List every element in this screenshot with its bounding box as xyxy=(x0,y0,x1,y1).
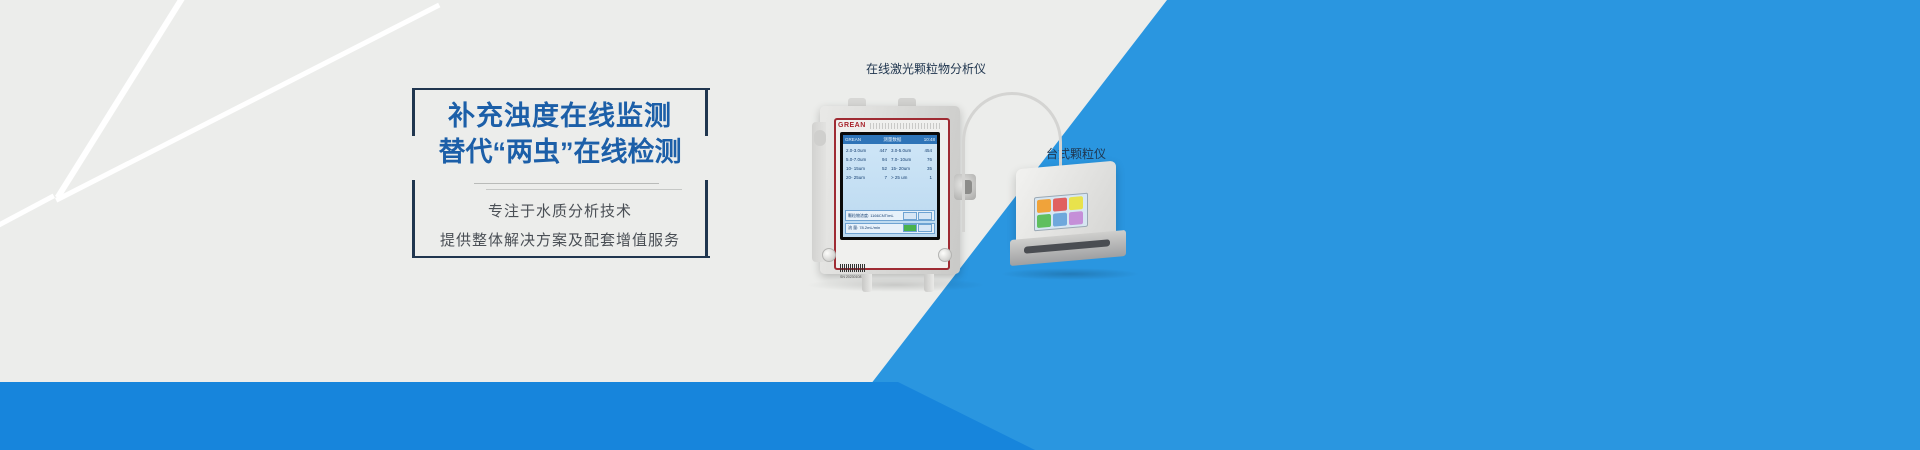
analyzer-foot-left xyxy=(862,274,872,292)
hero-banner: 补充浊度在线监测 替代“两虫”在线检测 专注于水质分析技术 提供整体解决方案及配… xyxy=(0,0,1920,450)
analyzer-display-bezel: GREAN 测量数据 10:48 2.0-3.0um 447 3.0-5.0um… xyxy=(840,132,940,240)
screen-title-left: GREAN xyxy=(845,137,861,142)
tile-yellow-icon[interactable] xyxy=(1069,196,1083,210)
bracket-top-rule xyxy=(412,88,710,90)
cell-value-a: 94 xyxy=(867,155,890,164)
analyzer-foot-right xyxy=(924,274,934,292)
subtitle-line-1: 专注于水质分析技术 xyxy=(412,200,708,221)
analyzer-screen[interactable]: GREAN 测量数据 10:48 2.0-3.0um 447 3.0-5.0um… xyxy=(843,135,937,237)
analyzer-vent-grille xyxy=(870,123,940,129)
screen-status-area: 颗粒物浓度: 1166CNT/mL 流 量: 78.2mL/min xyxy=(843,209,937,237)
screen-data-table: 2.0-3.0um 447 3.0-5.0um 454 5.0-7.0um 94… xyxy=(843,144,937,209)
cell-value-b: 1 xyxy=(912,173,935,182)
cell-range-b: > 25 um xyxy=(890,173,912,182)
cell-value-a: 7 xyxy=(867,173,890,182)
cell-range-a: 5.0-7.0um xyxy=(845,155,867,164)
benchtop-screen[interactable] xyxy=(1034,193,1088,232)
bracket-bottom-rule xyxy=(412,256,710,258)
cell-value-a: 52 xyxy=(867,164,890,173)
table-row: 10- 15um 52 15- 20um 35 xyxy=(845,164,935,173)
settings-button[interactable] xyxy=(903,212,917,220)
headline-line-1: 补充浊度在线监测 xyxy=(412,98,708,134)
cell-range-a: 2.0-3.0um xyxy=(845,146,867,155)
cell-value-b: 76 xyxy=(912,155,935,164)
online-laser-particle-analyzer: GREAN GREAN 测量数据 10:48 2.0-3.0um 447 3.0… xyxy=(812,96,970,286)
subtitle-line-2: 提供整体解决方案及配套增值服务 xyxy=(412,229,708,250)
table-row: 20- 25um 7 > 25 um 1 xyxy=(845,173,935,182)
tile-orange-icon[interactable] xyxy=(1037,199,1051,213)
tile-green-icon[interactable] xyxy=(1037,214,1051,228)
tile-red-icon[interactable] xyxy=(1053,197,1067,211)
cell-value-a: 447 xyxy=(867,146,890,155)
analyzer-bolt-left xyxy=(822,248,836,262)
concentration-label: 颗粒物浓度: 1166CNT/mL xyxy=(848,213,901,219)
page-title: 补充浊度在线监测 替代“两虫”在线检测 xyxy=(412,98,708,170)
table-row: 2.0-3.0um 447 3.0-5.0um 454 xyxy=(845,146,935,155)
screen-title-bar: GREAN 测量数据 10:48 xyxy=(843,135,937,144)
analyzer-barcode xyxy=(840,264,866,272)
cell-range-b: 7.0- 10um xyxy=(890,155,912,164)
divider-rule-upper xyxy=(474,183,659,184)
headline-card: 补充浊度在线监测 替代“两虫”在线检测 专注于水质分析技术 提供整体解决方案及配… xyxy=(412,88,708,258)
cell-value-b: 454 xyxy=(912,146,935,155)
analyzer-serial-text: SN 20230108 xyxy=(840,275,861,279)
cell-range-a: 20- 25um xyxy=(845,173,867,182)
headline-line-2: 替代“两虫”在线检测 xyxy=(412,134,708,170)
tile-blue-icon[interactable] xyxy=(1053,212,1067,226)
status-bar-concentration: 颗粒物浓度: 1166CNT/mL xyxy=(845,210,935,221)
query-button[interactable] xyxy=(918,212,932,220)
callout-label-analyzer: 在线激光颗粒物分析仪 xyxy=(866,60,986,77)
benchtop-particle-counter xyxy=(1010,165,1128,270)
analyzer-side-knob xyxy=(814,130,826,146)
cell-range-b: 15- 20um xyxy=(890,164,912,173)
screen-title-right: 10:48 xyxy=(924,137,935,142)
analyzer-brand-logo: GREAN xyxy=(838,122,866,129)
tile-purple-icon[interactable] xyxy=(1069,211,1083,225)
analyzer-bolt-right xyxy=(938,248,952,262)
status-bar-flow: 流 量: 78.2mL/min xyxy=(845,223,935,234)
start-button[interactable] xyxy=(903,224,917,232)
screen-title-center: 测量数据 xyxy=(883,137,901,143)
flow-label: 流 量: 78.2mL/min xyxy=(848,225,901,231)
cell-range-a: 10- 15um xyxy=(845,164,867,173)
calibrate-button[interactable] xyxy=(918,224,932,232)
table-row: 5.0-7.0um 94 7.0- 10um 76 xyxy=(845,155,935,164)
cell-range-b: 3.0-5.0um xyxy=(890,146,912,155)
divider-rule-lower xyxy=(486,189,682,190)
cell-value-b: 35 xyxy=(912,164,935,173)
